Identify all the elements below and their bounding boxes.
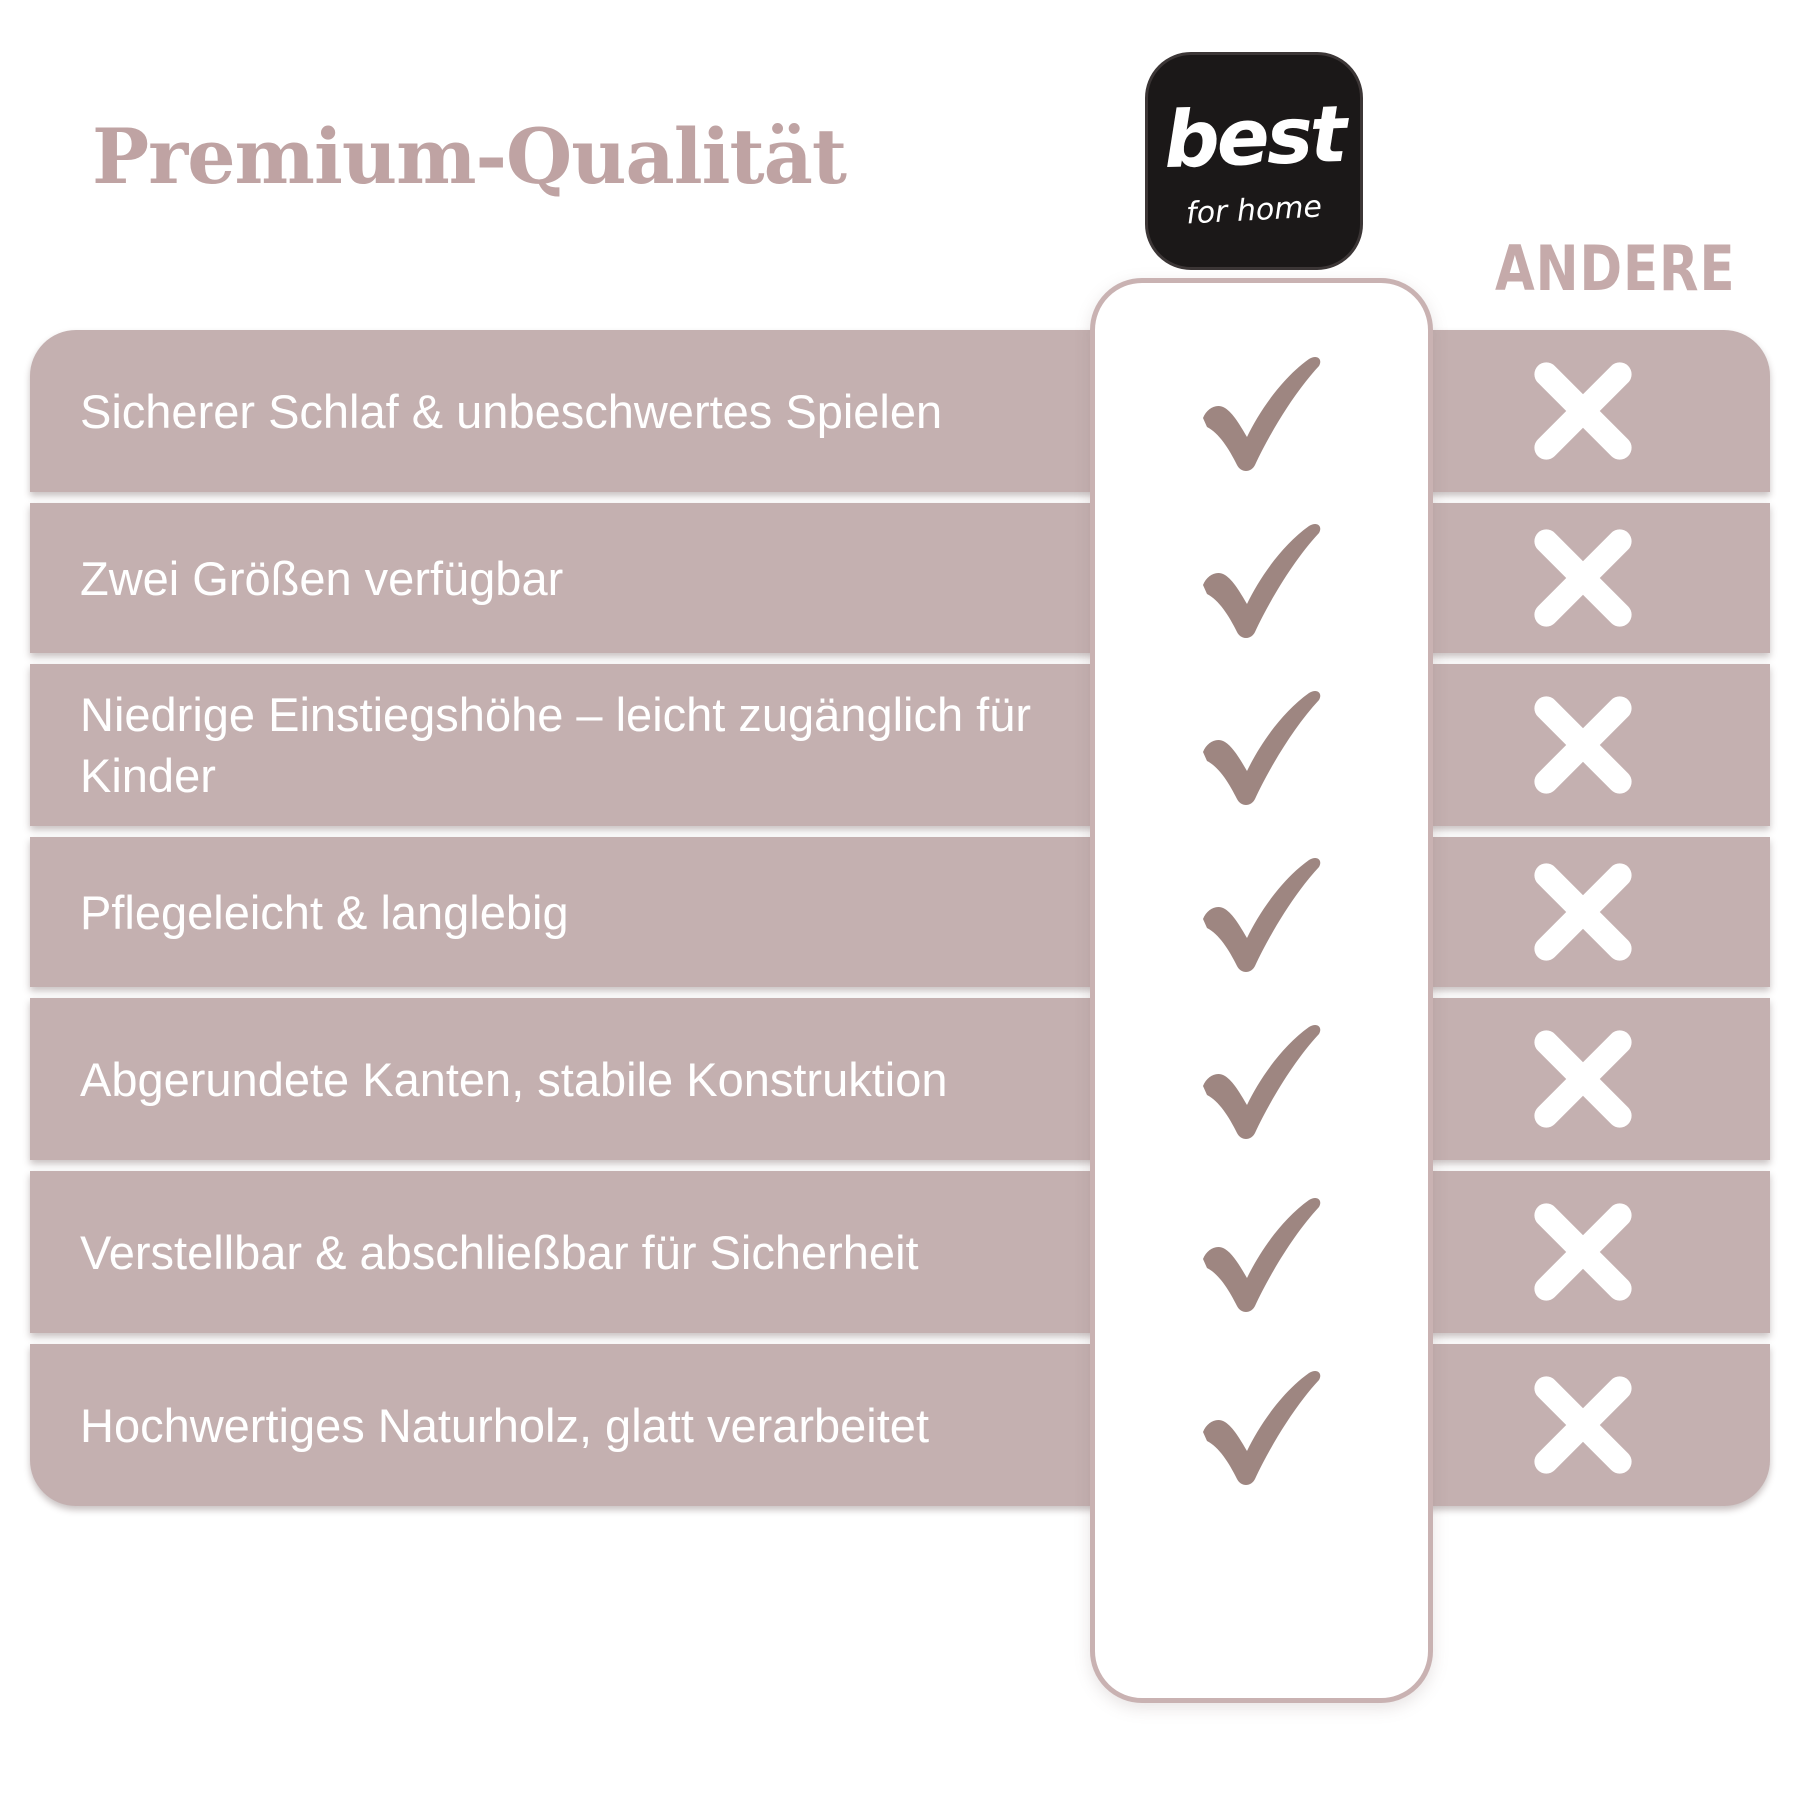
header: Premium-Qualität best for home ANDERE <box>0 0 1800 330</box>
comparison-table: Sicherer Schlaf & unbeschwertes SpielenZ… <box>30 330 1770 1506</box>
others-cell <box>1410 1371 1770 1479</box>
others-cell <box>1410 1198 1770 1306</box>
others-cell <box>1410 691 1770 799</box>
cross-icon <box>1529 1025 1637 1133</box>
feature-label: Pflegeleicht & langlebig <box>30 882 1110 943</box>
cross-icon <box>1529 1198 1637 1306</box>
feature-label: Niedrige Einstiegshöhe – leicht zugängli… <box>30 684 1110 806</box>
cross-icon <box>1529 858 1637 966</box>
table-row: Pflegeleicht & langlebig <box>30 837 1770 987</box>
feature-label: Zwei Größen verfügbar <box>30 548 1110 609</box>
table-row: Sicherer Schlaf & unbeschwertes Spielen <box>30 330 1770 492</box>
cross-icon <box>1529 357 1637 465</box>
table-row: Niedrige Einstiegshöhe – leicht zugängli… <box>30 664 1770 826</box>
brand-logo: best for home <box>1145 52 1363 270</box>
table-row: Zwei Größen verfügbar <box>30 503 1770 653</box>
others-cell <box>1410 1025 1770 1133</box>
cross-icon <box>1529 691 1637 799</box>
table-row: Hochwertiges Naturholz, glatt verarbeite… <box>30 1344 1770 1506</box>
feature-label: Verstellbar & abschließbar für Sicherhei… <box>30 1222 1110 1283</box>
feature-label: Hochwertiges Naturholz, glatt verarbeite… <box>30 1395 1110 1456</box>
feature-label: Abgerundete Kanten, stabile Konstruktion <box>30 1049 1110 1110</box>
page-title: Premium-Qualität <box>92 112 846 201</box>
table-row: Abgerundete Kanten, stabile Konstruktion <box>30 998 1770 1160</box>
feature-label: Sicherer Schlaf & unbeschwertes Spielen <box>30 381 1110 442</box>
others-cell <box>1410 858 1770 966</box>
others-cell <box>1410 357 1770 465</box>
others-column-header: ANDERE <box>1495 232 1716 305</box>
others-cell <box>1410 524 1770 632</box>
table-row: Verstellbar & abschließbar für Sicherhei… <box>30 1171 1770 1333</box>
brand-logo-wordmark: best <box>1147 93 1362 182</box>
cross-icon <box>1529 1371 1637 1479</box>
brand-logo-tagline: for home <box>1147 187 1361 233</box>
cross-icon <box>1529 524 1637 632</box>
